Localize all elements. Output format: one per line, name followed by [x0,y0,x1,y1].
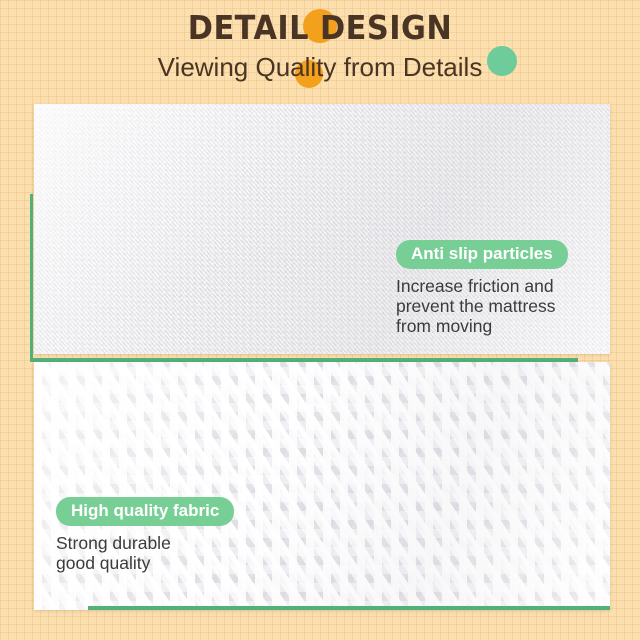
accent-line-bottom-panel-2 [88,606,610,610]
header: DETAIL DESIGN Viewing Quality from Detai… [0,0,640,92]
badge-high-quality-fabric: High quality fabric [56,497,234,526]
callout-high-quality-fabric: High quality fabric Strong durable good … [56,497,234,573]
accent-line-left-panel-1 [30,194,33,362]
description-high-quality-fabric: Strong durable good quality [56,533,234,573]
page-title: DETAIL DESIGN [26,8,615,48]
badge-anti-slip-particles: Anti slip particles [396,240,568,269]
infographic-page: DETAIL DESIGN Viewing Quality from Detai… [0,0,640,640]
callout-anti-slip: Anti slip particles Increase friction an… [396,240,568,336]
page-subtitle: Viewing Quality from Details [0,50,640,84]
description-anti-slip: Increase friction and prevent the mattre… [396,276,568,336]
